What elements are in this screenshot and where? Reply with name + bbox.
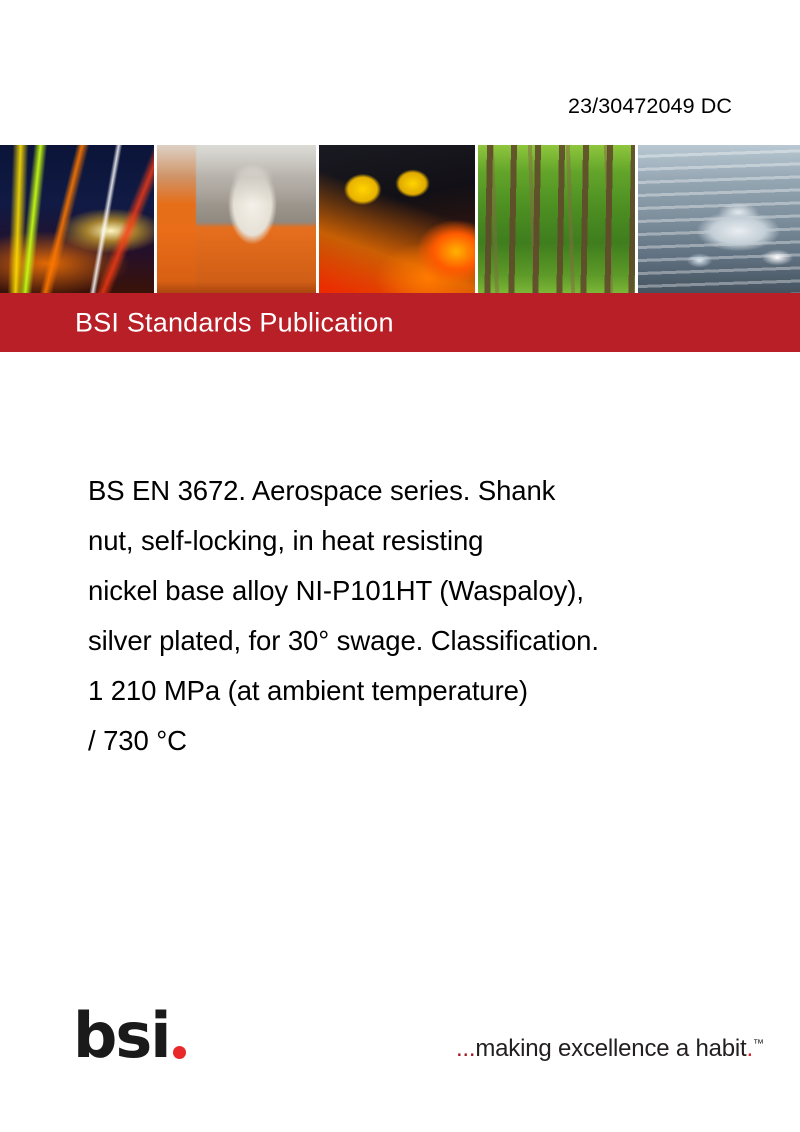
firefighters-photo [319, 145, 476, 293]
light-trails-photo [0, 145, 154, 293]
title-line-4: silver plated, for 30° swage. Classifica… [88, 616, 748, 666]
standard-title: BS EN 3672. Aerospace series. Shank nut,… [88, 466, 748, 766]
forest-photo [478, 145, 635, 293]
bsi-logo-wordmark: bsi [73, 1009, 170, 1064]
bsi-logo: bsi [73, 1002, 186, 1064]
cover-photo-strip [0, 145, 800, 293]
title-line-1: BS EN 3672. Aerospace series. Shank [88, 466, 748, 516]
tagline-ellipsis: ... [456, 1035, 475, 1062]
title-line-5: 1 210 MPa (at ambient temperature) [88, 666, 748, 716]
bsi-tagline: ...making excellence a habit.™ [456, 1035, 764, 1063]
title-line-3: nickel base alloy NI-P101HT (Waspaloy), [88, 566, 748, 616]
tagline-text: making excellence a habit [475, 1035, 746, 1062]
title-line-6: / 730 °C [88, 716, 748, 766]
trademark-symbol: ™ [753, 1038, 764, 1050]
warehouse-worker-photo [157, 145, 316, 293]
document-reference-number: 23/30472049 DC [568, 94, 732, 119]
document-cover-page: 23/30472049 DC BSI Standards Publication… [0, 0, 800, 1132]
car-assembly-photo [638, 145, 800, 293]
bsi-logo-dot-icon [173, 1046, 186, 1059]
bsi-standards-banner: BSI Standards Publication [0, 293, 800, 352]
banner-title: BSI Standards Publication [75, 307, 394, 338]
title-line-2: nut, self-locking, in heat resisting [88, 516, 748, 566]
